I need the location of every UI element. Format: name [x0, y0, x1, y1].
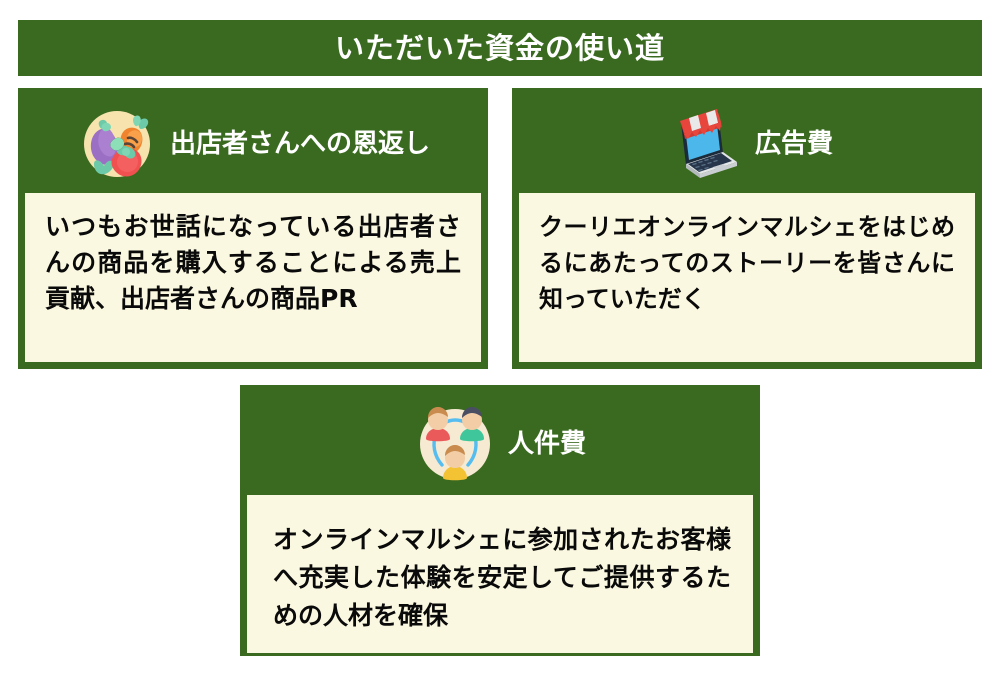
vegetables-icon: [76, 103, 158, 185]
usage-card-vendor-giveback: 出店者さんへの恩返し いつもお世話になっている出店者さんの商品を購入することによ…: [18, 88, 488, 369]
usage-card-advertising: 広告費 クーリエオンラインマルシェをはじめるにあたってのストーリーを皆さんに知っ…: [512, 88, 982, 369]
card-header: 出店者さんへの恩返し: [25, 95, 481, 193]
funding-usage-infographic: いただいた資金の使い道: [0, 0, 1000, 676]
usage-card-personnel: 人件費 オンラインマルシェに参加されたお客様へ充実した体験を安定してご提供するた…: [240, 385, 760, 656]
card-body: オンラインマルシェに参加されたお客様へ充実した体験を安定してご提供するための人材…: [247, 495, 753, 653]
card-body: いつもお世話になっている出店者さんの商品を購入することによる売上貢献、出店者さん…: [25, 193, 481, 362]
card-title: 人件費: [508, 431, 586, 457]
card-title: 出店者さんへの恩返し: [170, 131, 430, 157]
card-body: クーリエオンラインマルシェをはじめるにあたってのストーリーを皆さんに知っていただ…: [519, 193, 975, 362]
page-title: いただいた資金の使い道: [335, 34, 665, 63]
card-description: オンラインマルシェに参加されたお客様へ充実した体験を安定してご提供するための人材…: [273, 521, 731, 635]
card-description: クーリエオンラインマルシェをはじめるにあたってのストーリーを皆さんに知っていただ…: [539, 209, 955, 317]
card-header: 人件費: [247, 392, 753, 495]
page-header-banner: いただいた資金の使い道: [18, 20, 982, 76]
card-title: 広告費: [755, 131, 833, 157]
card-description: いつもお世話になっている出店者さんの商品を購入することによる売上貢献、出店者さん…: [45, 209, 461, 317]
card-header: 広告費: [519, 95, 975, 193]
people-group-icon: [414, 403, 496, 485]
online-shop-laptop-icon: [661, 103, 743, 185]
